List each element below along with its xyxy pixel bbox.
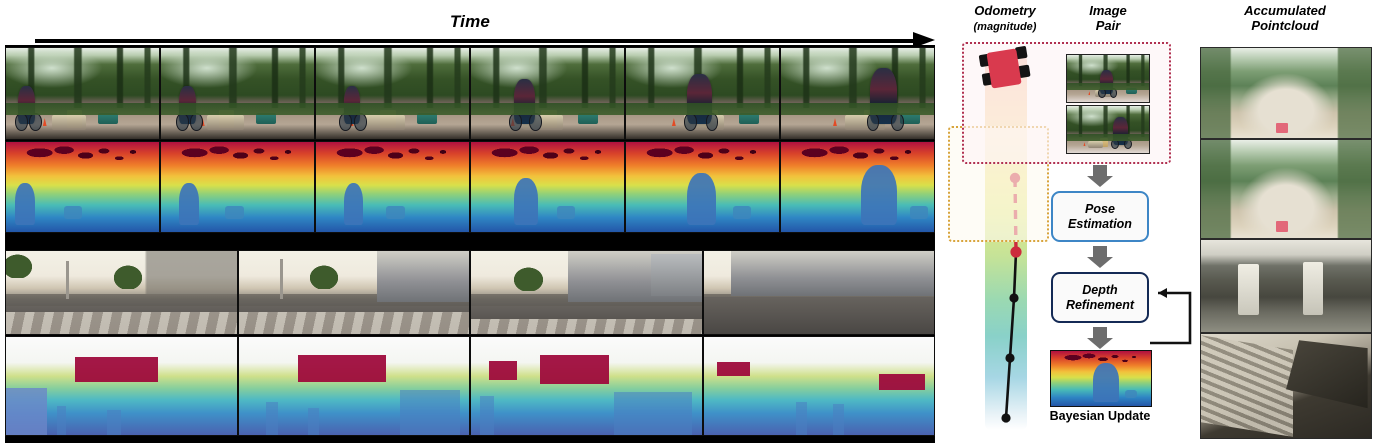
feedback-arrowhead — [1158, 288, 1167, 298]
depth-refinement-line1: Depth — [1082, 283, 1117, 297]
grid-cell-depth-forest — [315, 141, 470, 233]
time-axis-label: Time — [0, 12, 940, 32]
pointcloud-title-line1: Accumulated — [1244, 3, 1326, 18]
odometry-title-main: Odometry — [974, 3, 1035, 18]
grid-row-forest-depth — [5, 141, 935, 233]
sequence-grid — [5, 45, 935, 443]
grid-cell-depth-urban — [238, 336, 471, 436]
image-pair-title: Image Pair — [1060, 4, 1156, 34]
grid-cell-depth-urban — [470, 336, 703, 436]
odometry-title-sub: (magnitude) — [974, 21, 1037, 33]
image-pair-title-line2: Pair — [1096, 18, 1121, 33]
image-pair-title-line1: Image — [1089, 3, 1127, 18]
grid-cell-rgb-urban — [5, 250, 238, 335]
trajectory-node — [1005, 353, 1014, 362]
pointcloud-title-line2: Pointcloud — [1251, 18, 1318, 33]
trajectory-node — [1001, 413, 1010, 422]
time-axis-shaft — [35, 39, 913, 43]
pose-estimation-line1: Pose — [1085, 202, 1115, 216]
pointcloud-column — [1200, 47, 1372, 439]
bayesian-update-depth-image — [1050, 350, 1152, 407]
grid-row-urban-depth — [5, 336, 935, 436]
grid-cell-rgb-forest — [625, 47, 780, 140]
grid-cell-rgb-forest — [315, 47, 470, 140]
grid-cell-depth-forest — [625, 141, 780, 233]
grid-cell-rgb-forest — [780, 47, 935, 140]
odometry-title: Odometry (magnitude) — [950, 4, 1060, 34]
grid-cell-rgb-urban — [470, 250, 703, 335]
image-pair-frame-b — [1066, 105, 1150, 154]
grid-cell-depth-forest — [780, 141, 935, 233]
grid-cell-depth-urban — [5, 336, 238, 436]
stage-pose-estimation[interactable]: Pose Estimation — [1051, 191, 1149, 242]
grid-row-forest-rgb — [5, 47, 935, 140]
pointcloud-render — [1200, 139, 1372, 239]
trajectory-node — [1009, 293, 1018, 302]
pointcloud-render — [1200, 333, 1372, 439]
grid-cell-rgb-forest — [5, 47, 160, 140]
grid-cell-rgb-urban — [238, 250, 471, 335]
pose-estimation-line2: Estimation — [1068, 217, 1132, 231]
pointcloud-title: Accumulated Pointcloud — [1195, 4, 1375, 34]
grid-cell-depth-forest — [470, 141, 625, 233]
depth-refinement-line2: Refinement — [1066, 298, 1134, 312]
grid-cell-depth-forest — [5, 141, 160, 233]
grid-cell-rgb-urban — [703, 250, 936, 335]
pointcloud-render — [1200, 47, 1372, 139]
grid-row-urban-rgb — [5, 250, 935, 335]
trajectory-marker-current — [1010, 246, 1021, 257]
bayesian-update-label: Bayesian Update — [1030, 409, 1170, 423]
time-axis-arrow — [35, 37, 935, 44]
grid-cell-depth-forest — [160, 141, 315, 233]
pointcloud-render — [1200, 239, 1372, 333]
image-pair-frame-a — [1066, 54, 1150, 103]
feedback-loop-arrow — [1140, 285, 1200, 385]
grid-cell-rgb-forest — [160, 47, 315, 140]
vehicle-icon — [975, 42, 1039, 95]
trajectory-line — [1006, 252, 1016, 418]
stage-depth-refinement[interactable]: Depth Refinement — [1051, 272, 1149, 323]
grid-cell-depth-urban — [703, 336, 936, 436]
grid-cell-rgb-forest — [470, 47, 625, 140]
